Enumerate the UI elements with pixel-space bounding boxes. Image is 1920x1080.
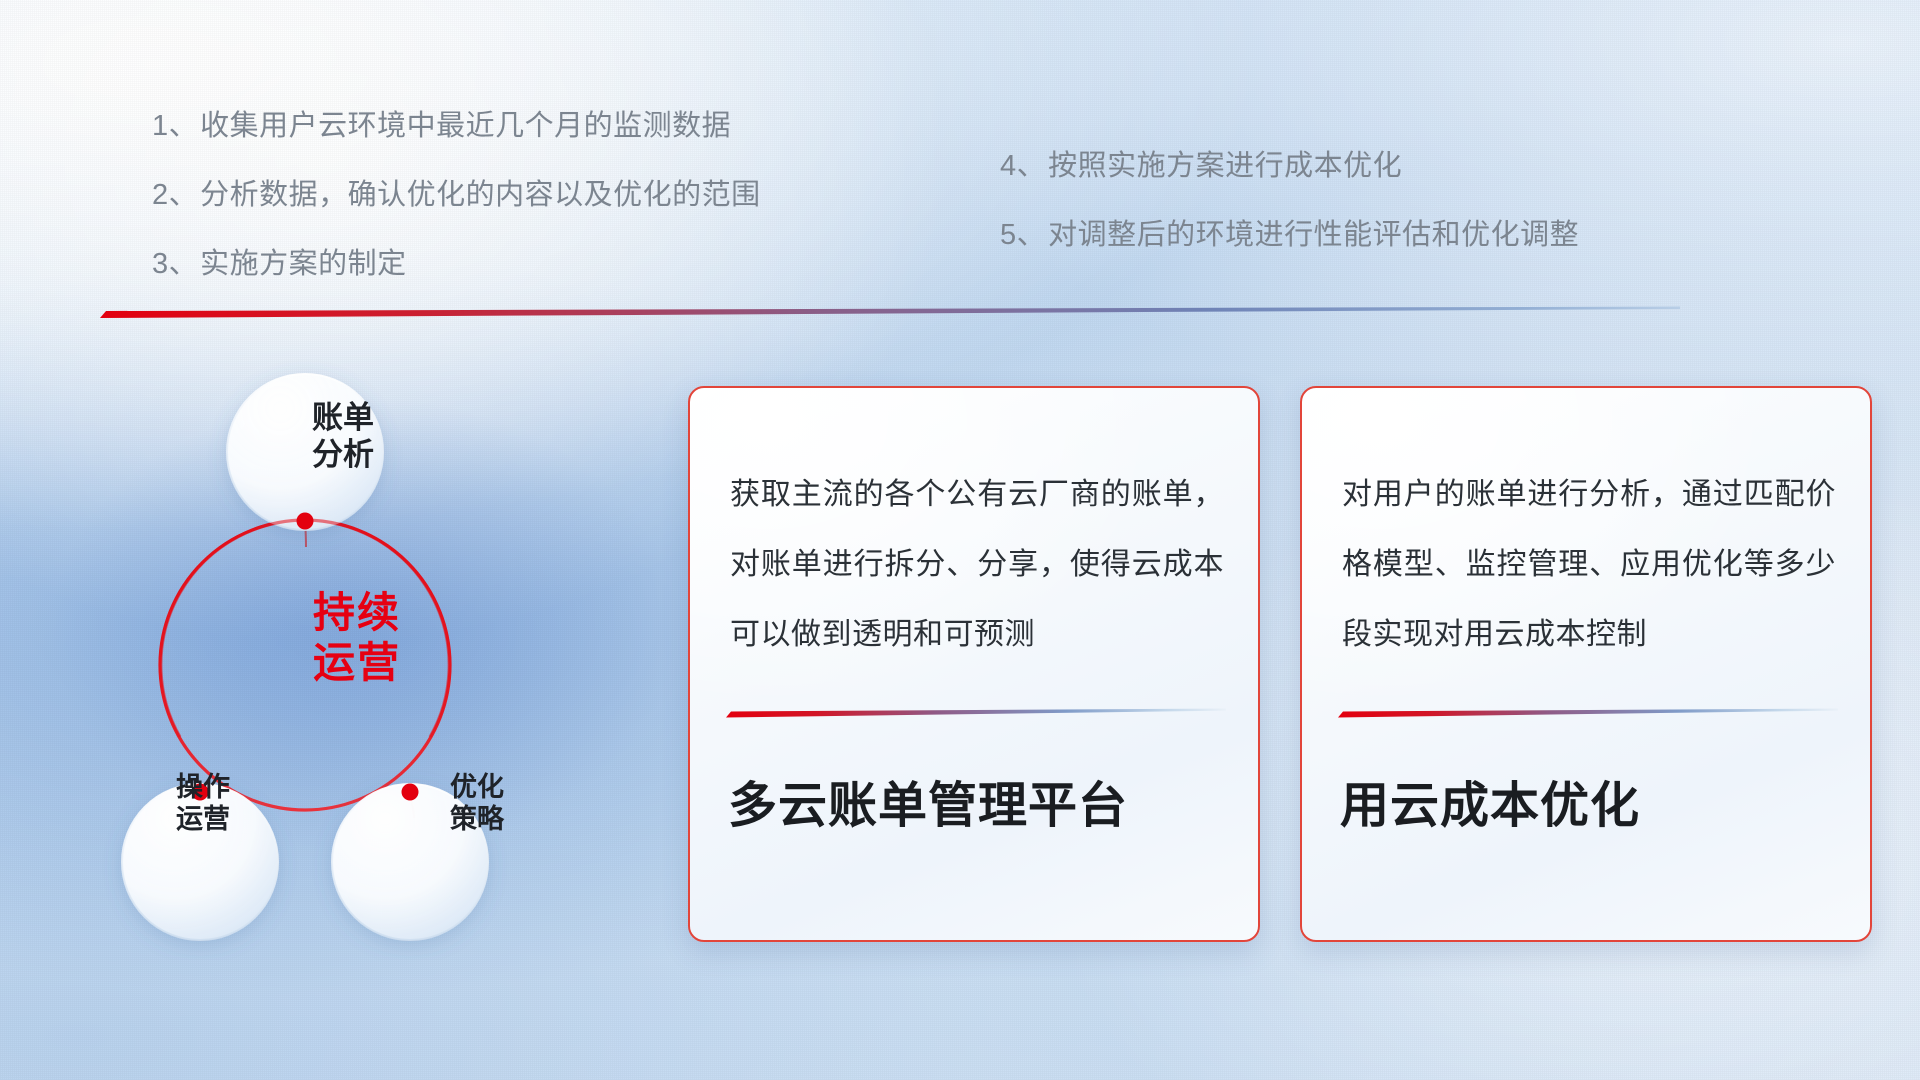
step-item: 4、 按照实施方案进行成本优化 bbox=[1000, 152, 1579, 181]
feature-card-billing-platform[interactable]: 获取主流的各个公有云厂商的账单，对账单进行拆分、分享，使得云成本可以做到透明和可… bbox=[688, 386, 1260, 942]
diagram-center-line1: 持续 bbox=[282, 588, 432, 638]
step-label: 按照实施方案进行成本优化 bbox=[1048, 152, 1402, 181]
card-body-text: 获取主流的各个公有云厂商的账单，对账单进行拆分、分享，使得云成本可以做到透明和可… bbox=[730, 460, 1224, 670]
diagram-node-br-line1: 优化 bbox=[392, 772, 562, 804]
diagram-node-bl-line1: 操作 bbox=[118, 772, 288, 804]
card-title: 用云成本优化 bbox=[1340, 766, 1840, 837]
step-number: 2、 bbox=[152, 181, 198, 210]
step-item: 1、 收集用户云环境中最近几个月的监测数据 bbox=[152, 112, 761, 141]
diagram-node-top-line2: 分析 bbox=[258, 437, 428, 474]
diagram-node-top-label: 账单 分析 bbox=[258, 400, 428, 473]
step-label: 实施方案的制定 bbox=[200, 250, 407, 279]
step-label: 分析数据，确认优化的内容以及优化的范围 bbox=[200, 181, 761, 210]
card-body-text: 对用户的账单进行分析，通过匹配价格模型、监控管理、应用优化等多少段实现对用云成本… bbox=[1342, 460, 1836, 670]
diagram-center-line2: 运营 bbox=[282, 638, 432, 688]
step-item: 5、 对调整后的环境进行性能评估和优化调整 bbox=[1000, 221, 1579, 250]
steps-left-column: 1、 收集用户云环境中最近几个月的监测数据 2、 分析数据，确认优化的内容以及优… bbox=[152, 112, 761, 319]
diagram-node-br-line2: 策略 bbox=[392, 804, 562, 836]
step-number: 4、 bbox=[1000, 152, 1046, 181]
card-divider bbox=[1338, 706, 1838, 717]
step-label: 对调整后的环境进行性能评估和优化调整 bbox=[1048, 221, 1579, 250]
step-item: 2、 分析数据，确认优化的内容以及优化的范围 bbox=[152, 181, 761, 210]
step-label: 收集用户云环境中最近几个月的监测数据 bbox=[200, 112, 731, 141]
card-title: 多云账单管理平台 bbox=[728, 766, 1228, 837]
diagram-node-top-line1: 账单 bbox=[258, 400, 428, 437]
diagram-node-bottom-right-label: 优化 策略 bbox=[392, 772, 562, 836]
card-divider bbox=[726, 706, 1226, 717]
feature-card-cost-optimization[interactable]: 对用户的账单进行分析，通过匹配价格模型、监控管理、应用优化等多少段实现对用云成本… bbox=[1300, 386, 1872, 942]
steps-right-column: 4、 按照实施方案进行成本优化 5、 对调整后的环境进行性能评估和优化调整 bbox=[1000, 152, 1579, 290]
diagram-node-bl-line2: 运营 bbox=[118, 804, 288, 836]
diagram-center-label: 持续 运营 bbox=[282, 588, 432, 687]
section-divider bbox=[100, 306, 1680, 320]
step-item: 3、 实施方案的制定 bbox=[152, 250, 761, 279]
diagram-node-bottom-left-label: 操作 运营 bbox=[118, 772, 288, 836]
diagram-dot-top bbox=[297, 513, 314, 530]
implementation-steps: 1、 收集用户云环境中最近几个月的监测数据 2、 分析数据，确认优化的内容以及优… bbox=[0, 0, 1920, 300]
step-number: 3、 bbox=[152, 250, 198, 279]
step-number: 5、 bbox=[1000, 221, 1046, 250]
step-number: 1、 bbox=[152, 112, 198, 141]
